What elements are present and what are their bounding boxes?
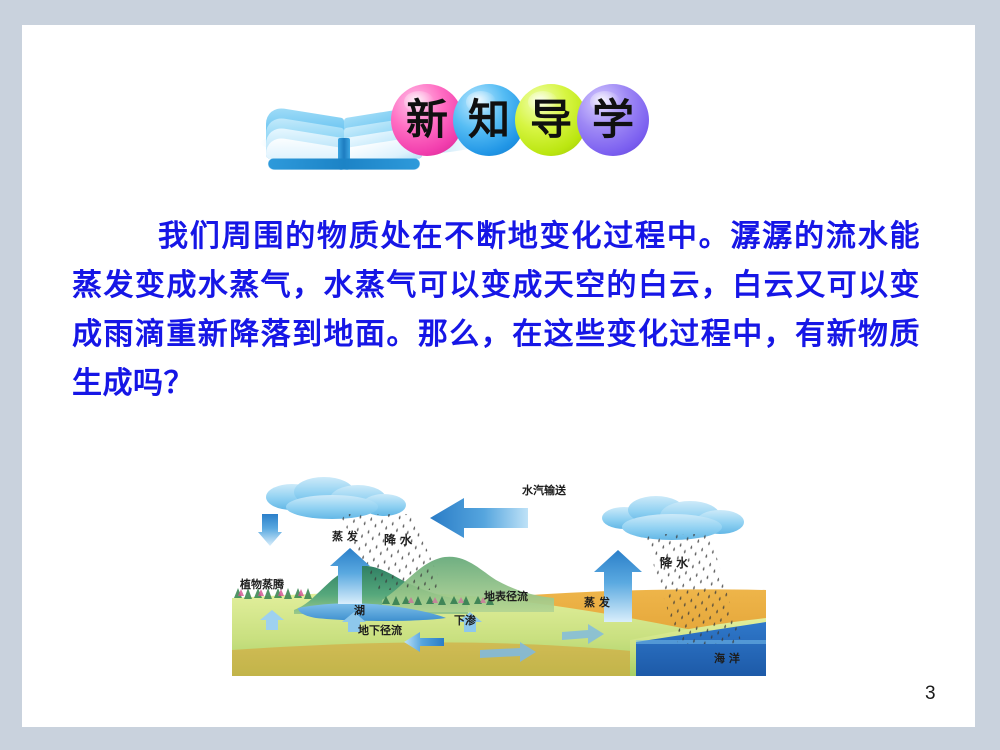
title-sphere-4: 学 <box>577 84 649 156</box>
title-char-3: 导 <box>530 99 572 141</box>
label-evaporation-left: 蒸 发 <box>332 529 359 543</box>
label-plant-transpiration: 植物蒸腾 <box>239 577 285 591</box>
label-infiltration: 下渗 <box>454 613 477 627</box>
title-char-2: 知 <box>468 99 510 141</box>
slide-frame: 新 知 导 学 我们周围的物质处在不断地变化过程中。潺潺的流水能蒸发变成水蒸气，… <box>0 0 1000 750</box>
book-base <box>267 159 422 170</box>
label-precipitation-left: 降 水 <box>384 532 413 547</box>
label-surface-runoff: 地表径流 <box>484 589 528 603</box>
label-precipitation-right: 降 水 <box>660 555 689 570</box>
label-vapor-transport: 水汽输送 <box>522 483 567 497</box>
label-lake: 湖 <box>354 603 365 617</box>
label-ocean: 海 洋 <box>714 651 740 665</box>
title-char-1: 新 <box>406 99 448 141</box>
label-groundwater-runoff: 地下径流 <box>358 623 402 637</box>
page-number: 3 <box>925 683 936 705</box>
body-paragraph: 我们周围的物质处在不断地变化过程中。潺潺的流水能蒸发变成水蒸气，水蒸气可以变成天… <box>72 212 920 408</box>
title-banner: 新 知 导 学 <box>258 62 718 180</box>
label-evaporation-right: 蒸 发 <box>584 595 611 609</box>
title-char-4: 学 <box>592 99 634 141</box>
water-cycle-diagram: 植物蒸腾 蒸 发 降 水 水汽输送 湖 地下径流 下渗 地表径流 降 水 蒸 发… <box>232 472 766 676</box>
